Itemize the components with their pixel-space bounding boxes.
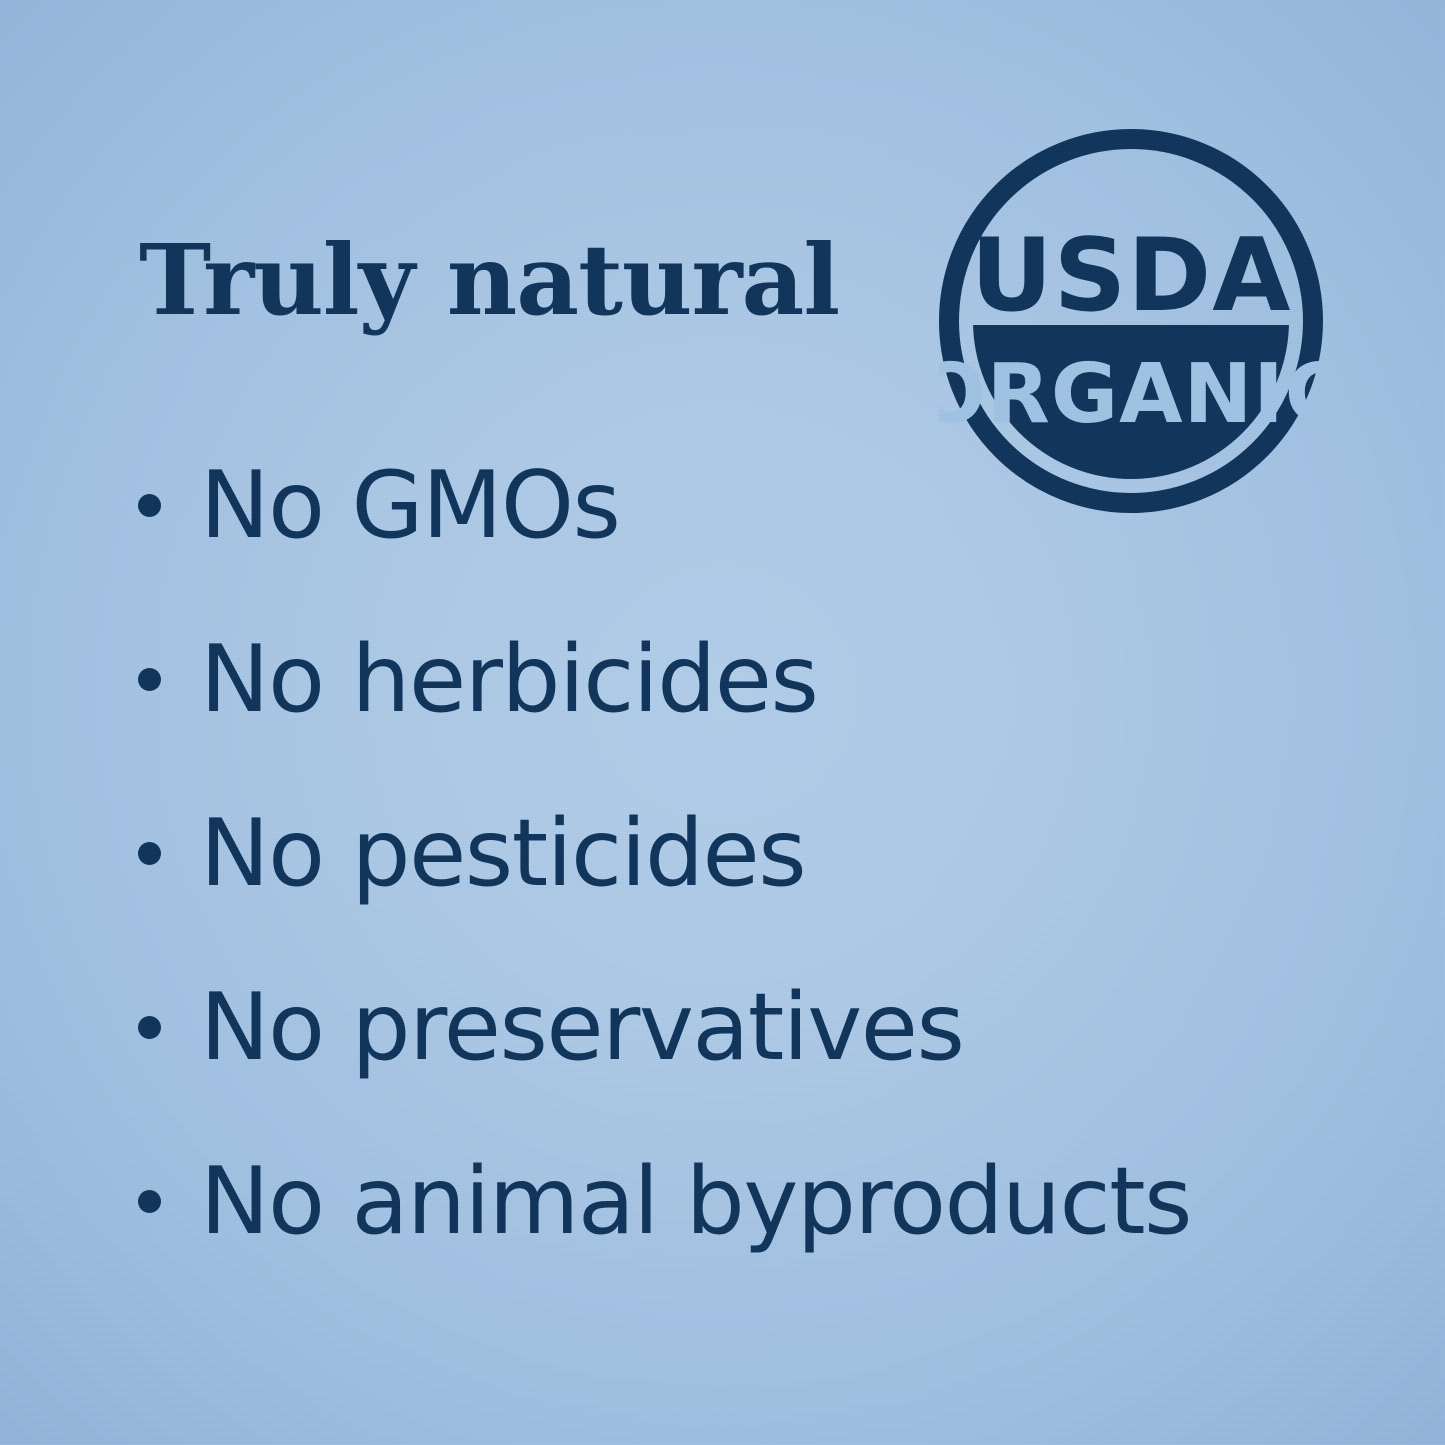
list-item: No pesticides xyxy=(136,766,1256,940)
list-item-label: No preservatives xyxy=(200,981,963,1074)
list-item: No animal byproducts xyxy=(136,1114,1256,1288)
bullet-dot-icon xyxy=(138,494,161,517)
bullet-dot-icon xyxy=(138,1016,161,1039)
seal-bottom-label: ORGANIC xyxy=(939,347,1323,442)
list-item-label: No animal byproducts xyxy=(200,1155,1191,1248)
bullet-dot-icon xyxy=(138,842,161,865)
list-item-label: No pesticides xyxy=(200,807,805,900)
bullet-dot-icon xyxy=(138,1190,161,1213)
list-item: No herbicides xyxy=(136,592,1256,766)
page-title: Truly natural xyxy=(139,232,839,329)
list-item: No preservatives xyxy=(136,940,1256,1114)
seal-top-label: USDA xyxy=(971,216,1292,334)
bullet-dot-icon xyxy=(138,668,161,691)
claims-list: No GMOs No herbicides No pesticides No p… xyxy=(136,418,1256,1288)
organic-claims-poster: Truly natural No GMOs No herbicides No p… xyxy=(0,0,1445,1445)
list-item-label: No GMOs xyxy=(200,459,620,552)
usda-organic-seal-icon: USDA ORGANIC xyxy=(939,129,1323,513)
list-item-label: No herbicides xyxy=(200,633,817,726)
